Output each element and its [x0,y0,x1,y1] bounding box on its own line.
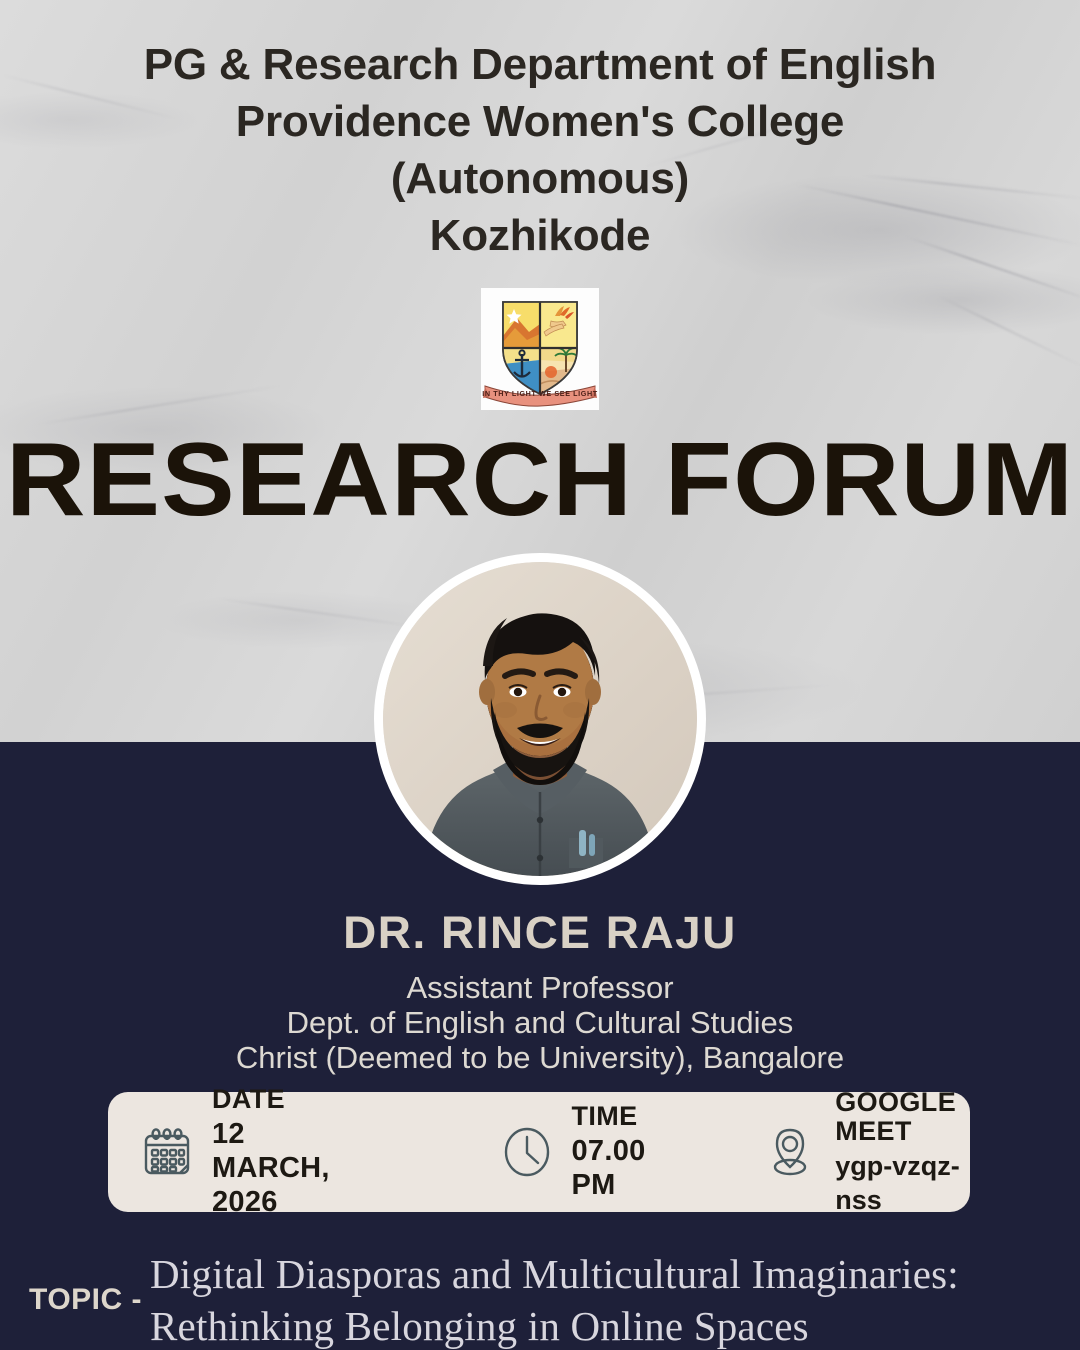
calendar-icon [136,1121,198,1183]
speaker-institution: Christ (Deemed to be University), Bangal… [0,1040,1080,1075]
event-info-bar: DATE 12 MARCH, 2026 TIME 07.00 PM [108,1092,970,1212]
time-label: TIME [572,1102,648,1131]
meet-code[interactable]: ygp-vzqz-nss [835,1149,970,1217]
speaker-details: Assistant Professor Dept. of English and… [0,970,1080,1075]
header-line-2: Providence Women's College [0,93,1080,150]
topic-text: Digital Diasporas and Multicultural Imag… [150,1248,1080,1350]
date-value: 12 MARCH, 2026 [212,1117,368,1219]
info-item-google-meet: GOOGLE MEET ygp-vzqz-nss [759,1088,970,1217]
crest-motto-ribbon: IN THY LIGHT WE SEE LIGHT [482,386,598,406]
college-crest-icon: IN THY LIGHT WE SEE LIGHT [481,288,599,410]
forum-title: RESEARCH FORUM [0,428,1080,532]
header-line-4: Kozhikode [0,207,1080,264]
speaker-designation: Assistant Professor [0,970,1080,1005]
event-poster: PG & Research Department of English Prov… [0,0,1080,1350]
marble-vein [938,295,1080,367]
time-value: 07.00 PM [572,1134,648,1202]
clock-icon [496,1121,558,1183]
marble-vein [216,597,424,628]
info-item-date: DATE 12 MARCH, 2026 [136,1085,368,1219]
speaker-department: Dept. of English and Cultural Studies [0,1005,1080,1040]
poster-header: PG & Research Department of English Prov… [0,36,1080,264]
meet-label: GOOGLE MEET [835,1088,970,1146]
info-text-time: TIME 07.00 PM [572,1102,648,1202]
topic-line-1: Digital Diasporas and Multicultural Imag… [150,1248,1080,1300]
location-pin-icon [759,1121,821,1183]
info-text-meet: GOOGLE MEET ygp-vzqz-nss [835,1088,970,1217]
svg-text:IN THY LIGHT WE SEE LIGHT: IN THY LIGHT WE SEE LIGHT [482,389,598,398]
speaker-portrait [374,553,706,885]
header-line-3: (Autonomous) [0,150,1080,207]
header-line-1: PG & Research Department of English [0,36,1080,93]
marble-vein [36,384,283,425]
topic-row: TOPIC - Digital Diasporas and Multicultu… [0,1248,1080,1350]
info-text-date: DATE 12 MARCH, 2026 [212,1085,368,1219]
date-label: DATE [212,1085,368,1114]
topic-label: TOPIC - [0,1283,150,1317]
speaker-name: DR. RINCE RAJU [0,908,1080,958]
info-item-time: TIME 07.00 PM [496,1102,648,1202]
topic-line-2: Rethinking Belonging in Online Spaces [150,1300,1080,1350]
